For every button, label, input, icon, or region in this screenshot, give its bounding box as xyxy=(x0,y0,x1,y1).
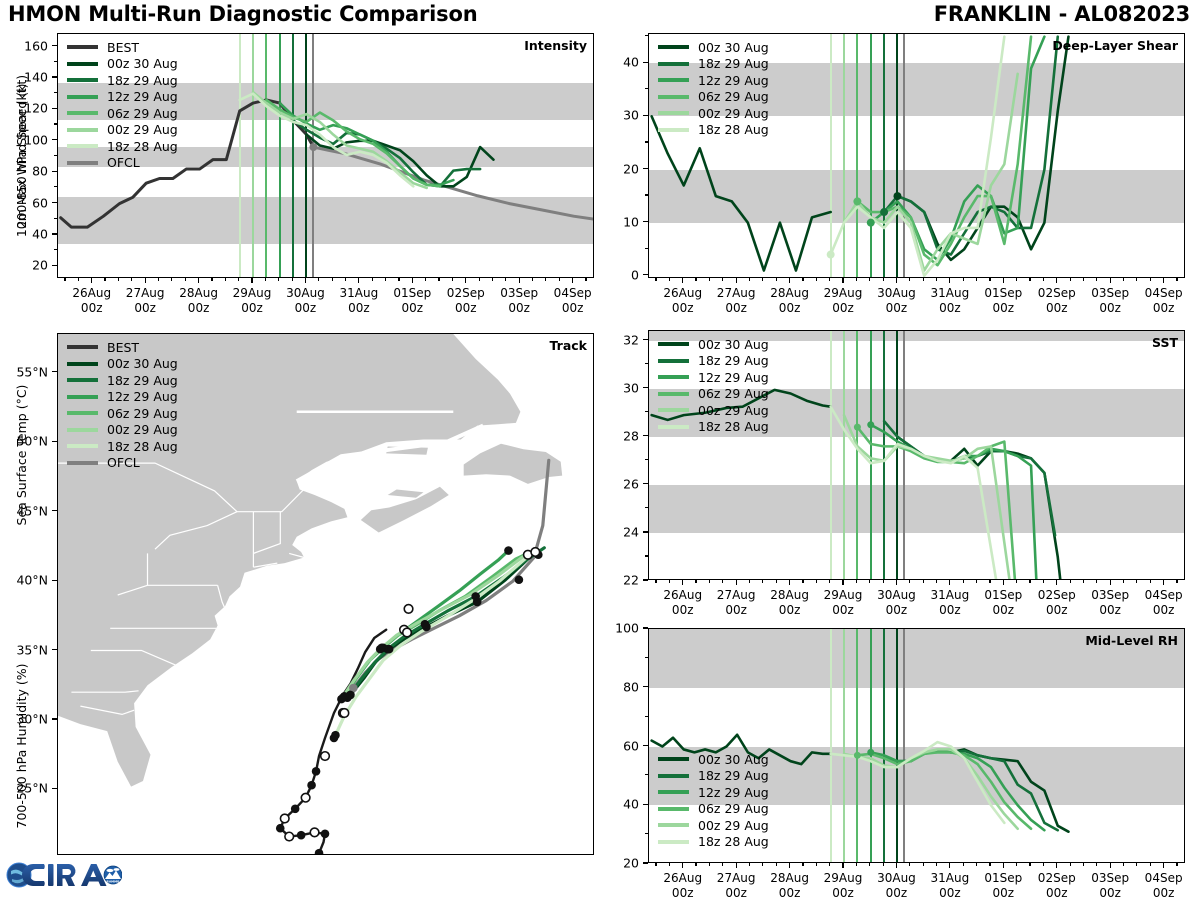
legend-label: 00z 29 Aug xyxy=(107,122,178,137)
xtick-date: 04Sep xyxy=(554,286,592,300)
shear-xtickmark-minor xyxy=(989,278,990,281)
track-ytick-25: 25°N xyxy=(0,781,48,796)
track-position-marker xyxy=(297,831,306,840)
intensity-plot-area: IntensityBEST00z 30 Aug18z 29 Aug12z 29 … xyxy=(57,33,594,278)
shear-xtick-30Aug: 30Aug00z xyxy=(877,286,916,316)
sst-xtickmark-minor xyxy=(829,580,830,583)
intensity-xtickmark-minor xyxy=(171,278,172,281)
intensity-xtickmark-minor xyxy=(559,278,560,281)
xtick-hour: 00z xyxy=(348,301,370,315)
xtick-hour: 00z xyxy=(1153,301,1175,315)
intensity-xtickmark xyxy=(519,278,520,283)
rh-xtick-02Sep: 02Sep00z xyxy=(1038,871,1076,900)
legend-item-00z-30-aug: 00z 30 Aug xyxy=(658,336,769,353)
legend-item-00z-30-aug: 00z 30 Aug xyxy=(67,356,178,373)
track-position-marker xyxy=(280,814,289,823)
legend-label: 18z 29 Aug xyxy=(698,353,769,368)
legend-label: 06z 29 Aug xyxy=(107,106,178,121)
legend-item-06z-29-aug: 06z 29 Aug xyxy=(658,89,769,106)
xtick-date: 04Sep xyxy=(1145,871,1183,885)
track-ytick-35: 35°N xyxy=(0,642,48,657)
intensity-xtickmark-minor xyxy=(318,278,319,281)
legend-swatch-00z-29-aug xyxy=(658,408,689,412)
rh-xtickmark-minor xyxy=(1070,863,1071,866)
rh-xtickmark-minor xyxy=(1150,863,1151,866)
xtick-hour: 00z xyxy=(81,301,103,315)
legend-item-18z-29-aug: 18z 29 Aug xyxy=(658,353,769,370)
intensity-xtickmark-minor xyxy=(118,278,119,281)
intensity-xtickmark xyxy=(572,278,573,283)
rh-xtickmark-minor xyxy=(1029,863,1030,866)
track-ytick-45: 45°N xyxy=(0,503,48,518)
intensity-xtickmark-minor xyxy=(505,278,506,281)
rh-xtickmark-minor xyxy=(923,863,924,866)
legend-label: 18z 28 Aug xyxy=(698,419,769,434)
xtick-hour: 00z xyxy=(134,301,156,315)
sst-xtick-28Aug: 28Aug00z xyxy=(770,588,809,618)
legend-label: 06z 29 Aug xyxy=(698,386,769,401)
rh-xtick-27Aug: 27Aug00z xyxy=(717,871,756,900)
sst-xtickmark-minor xyxy=(883,580,884,583)
intensity-xtickmark-minor xyxy=(438,278,439,281)
xtick-date: 26Aug xyxy=(72,286,111,300)
rh-xtickmark-minor xyxy=(936,863,937,866)
legend-item-00z-29-aug: 00z 29 Aug xyxy=(67,122,178,139)
legend-swatch-18z-28-aug xyxy=(67,444,98,448)
legend-label: 00z 29 Aug xyxy=(698,818,769,833)
sst-xtickmark-minor xyxy=(695,580,696,583)
intensity-xtickmark-minor xyxy=(425,278,426,281)
sst-xtickmark-minor xyxy=(936,580,937,583)
xtick-hour: 00z xyxy=(993,603,1015,617)
track-position-marker xyxy=(331,731,340,740)
track-position-marker xyxy=(531,548,540,557)
legend-item-00z-30-aug: 00z 30 Aug xyxy=(658,751,769,768)
rh-xtickmark xyxy=(736,863,737,868)
legend-item-00z-29-aug: 00z 29 Aug xyxy=(67,422,178,439)
rh-xtickmark-minor xyxy=(883,863,884,866)
legend-item-12z-29-aug: 12z 29 Aug xyxy=(658,369,769,386)
rh-xtickmark-minor xyxy=(669,863,670,866)
sst-xtickmark-minor xyxy=(709,580,710,583)
legend-swatch-18z-29-aug xyxy=(67,78,98,82)
intensity-xtickmark xyxy=(251,278,252,283)
xtick-date: 27Aug xyxy=(717,871,756,885)
series-00z-30-aug xyxy=(897,37,1068,260)
series-18z-29-aug xyxy=(884,751,1058,830)
shear-xtickmark xyxy=(1003,278,1004,283)
sst-xtickmark xyxy=(789,580,790,585)
legend-item-best: BEST xyxy=(67,39,178,56)
intensity-xtickmark-minor xyxy=(345,278,346,281)
sst-xtickmark-minor xyxy=(816,580,817,583)
shear-xtickmark xyxy=(949,278,950,283)
shear-xtickmark-minor xyxy=(976,278,977,281)
rh-xtickmark xyxy=(1163,863,1164,868)
intensity-xtickmark-minor xyxy=(585,278,586,281)
shear-xtickmark-minor xyxy=(709,278,710,281)
legend-label: BEST xyxy=(107,40,139,55)
xtick-hour: 00z xyxy=(295,301,317,315)
shear-xtickmark xyxy=(1056,278,1057,283)
intensity-xtickmark-minor xyxy=(532,278,533,281)
xtick-hour: 00z xyxy=(993,886,1015,900)
rh-xtick-29Aug: 29Aug00z xyxy=(824,871,863,900)
track-position-marker xyxy=(403,628,412,637)
shear-xtickmark-minor xyxy=(909,278,910,281)
xtick-date: 28Aug xyxy=(770,286,809,300)
track-ytick-50: 50°N xyxy=(0,434,48,449)
xtick-date: 29Aug xyxy=(824,871,863,885)
xtick-hour: 00z xyxy=(993,301,1015,315)
legend-label: 06z 29 Aug xyxy=(698,801,769,816)
rh-xtickmark xyxy=(949,863,950,868)
rh-xtick-30Aug: 30Aug00z xyxy=(877,871,916,900)
track-position-marker xyxy=(321,752,330,761)
xtick-date: 28Aug xyxy=(770,871,809,885)
shear-xtick-29Aug: 29Aug00z xyxy=(824,286,863,316)
shear-xtickmark xyxy=(789,278,790,283)
track-position-marker xyxy=(471,592,480,601)
shear-y-axis-label: 200-850 hPa Shear (kt) xyxy=(14,83,29,228)
legend-swatch-18z-28-aug xyxy=(658,840,689,844)
xtick-hour: 00z xyxy=(455,301,477,315)
intensity-xtick-31Aug: 31Aug00z xyxy=(340,286,379,316)
legend-item-00z-29-aug: 00z 29 Aug xyxy=(658,105,769,122)
legend-item-18z-28-aug: 18z 28 Aug xyxy=(67,138,178,155)
intensity-xtickmark-minor xyxy=(385,278,386,281)
shear-xtick-31Aug: 31Aug00z xyxy=(931,286,970,316)
intensity-xtickmark-minor xyxy=(479,278,480,281)
track-position-marker xyxy=(301,793,310,802)
shear-xtickmark-minor xyxy=(722,278,723,281)
rh-xtickmark-minor xyxy=(829,863,830,866)
rh-xtickmark-minor xyxy=(856,863,857,866)
legend-label: BEST xyxy=(107,340,139,355)
xtick-date: 30Aug xyxy=(877,588,916,602)
intensity-ytick-140: 140 xyxy=(0,69,48,84)
track-plot-area: TrackBEST00z 30 Aug18z 29 Aug12z 29 Aug0… xyxy=(57,333,594,855)
track-panel-title: Track xyxy=(550,338,587,353)
legend-swatch-ofcl xyxy=(67,461,98,465)
legend-swatch-00z-29-aug xyxy=(658,823,689,827)
rh-xtick-31Aug: 31Aug00z xyxy=(931,871,970,900)
rh-panel-title: Mid-Level RH xyxy=(1085,633,1178,648)
intensity-ytick-100: 100 xyxy=(0,132,48,147)
xtick-date: 26Aug xyxy=(663,286,702,300)
legend-label: 12z 29 Aug xyxy=(698,785,769,800)
legend-item-00z-30-aug: 00z 30 Aug xyxy=(658,39,769,56)
intensity-xtickmark-minor xyxy=(278,278,279,281)
sst-xtickmark-minor xyxy=(655,580,656,583)
legend-label: 00z 30 Aug xyxy=(698,752,769,767)
sst-xtickmark-minor xyxy=(749,580,750,583)
xtick-date: 01Sep xyxy=(984,286,1022,300)
legend-swatch-12z-29-aug xyxy=(658,790,689,794)
sst-xtickmark-minor xyxy=(989,580,990,583)
xtick-hour: 00z xyxy=(779,603,801,617)
shear-xtickmark-minor xyxy=(1150,278,1151,281)
xtick-hour: 00z xyxy=(1046,603,1068,617)
legend-label: 18z 28 Aug xyxy=(698,122,769,137)
legend-item-12z-29-aug: 12z 29 Aug xyxy=(67,389,178,406)
track-ytick-30: 30°N xyxy=(0,711,48,726)
rh-xtickmark-minor xyxy=(1176,863,1177,866)
xtick-hour: 00z xyxy=(241,301,263,315)
sst-xtickmark-minor xyxy=(923,580,924,583)
legend-swatch-00z-30-aug xyxy=(67,362,98,366)
xtick-date: 29Aug xyxy=(233,286,272,300)
legend-swatch-06z-29-aug xyxy=(67,111,98,115)
intensity-xtickmark-minor xyxy=(104,278,105,281)
legend-item-18z-29-aug: 18z 29 Aug xyxy=(658,56,769,73)
sst-xtickmark-minor xyxy=(762,580,763,583)
legend-label: 00z 30 Aug xyxy=(107,356,178,371)
xtick-hour: 00z xyxy=(1153,603,1175,617)
shear-xtickmark-minor xyxy=(883,278,884,281)
intensity-xtick-01Sep: 01Sep00z xyxy=(393,286,431,316)
xtick-hour: 00z xyxy=(886,886,908,900)
shear-xtickmark-minor xyxy=(816,278,817,281)
xtick-hour: 00z xyxy=(672,886,694,900)
init-marker xyxy=(867,219,875,227)
sst-xtickmark-minor xyxy=(1016,580,1017,583)
sst-xtickmark xyxy=(842,580,843,585)
sst-y-axis-label: Sea Surface Temp (°C) xyxy=(14,385,29,526)
track-position-marker xyxy=(504,546,513,555)
intensity-xtickmark-minor xyxy=(372,278,373,281)
intensity-ytick-160: 160 xyxy=(0,38,48,53)
intensity-xtick-30Aug: 30Aug00z xyxy=(286,286,325,316)
shear-xtickmark-minor xyxy=(802,278,803,281)
intensity-ytick-40: 40 xyxy=(0,227,48,242)
rh-xtickmark-minor xyxy=(776,863,777,866)
intensity-xtickmark-minor xyxy=(185,278,186,281)
legend-label: 18z 29 Aug xyxy=(107,73,178,88)
sst-xtickmark-minor xyxy=(869,580,870,583)
shear-xtickmark-minor xyxy=(963,278,964,281)
track-position-marker xyxy=(285,832,294,841)
xtick-date: 26Aug xyxy=(663,871,702,885)
legend-swatch-12z-29-aug xyxy=(67,395,98,399)
shear-xtickmark xyxy=(682,278,683,283)
xtick-date: 27Aug xyxy=(126,286,165,300)
legend-label: 12z 29 Aug xyxy=(107,89,178,104)
legend-label: 18z 28 Aug xyxy=(698,834,769,849)
legend-swatch-00z-30-aug xyxy=(658,757,689,761)
legend-swatch-00z-30-aug xyxy=(658,342,689,346)
sst-xtick-26Aug: 26Aug00z xyxy=(663,588,702,618)
sst-xtickmark-minor xyxy=(909,580,910,583)
sst-xtick-04Sep: 04Sep00z xyxy=(1145,588,1183,618)
intensity-xtick-28Aug: 28Aug00z xyxy=(179,286,218,316)
legend-swatch-12z-29-aug xyxy=(658,375,689,379)
series-ofcl xyxy=(313,147,594,219)
rh-xtickmark-minor xyxy=(802,863,803,866)
xtick-date: 02Sep xyxy=(447,286,485,300)
sst-xtick-31Aug: 31Aug00z xyxy=(931,588,970,618)
intensity-xtickmark-minor xyxy=(452,278,453,281)
sst-xtickmark-minor xyxy=(1096,580,1097,583)
legend-item-06z-29-aug: 06z 29 Aug xyxy=(67,405,178,422)
series-00z-29-aug xyxy=(844,74,1018,271)
ofcl-origin-marker xyxy=(309,143,317,151)
rh-xtickmark xyxy=(789,863,790,868)
intensity-xtickmark-minor xyxy=(332,278,333,281)
xtick-hour: 00z xyxy=(939,301,961,315)
legend-label: OFCL xyxy=(107,155,140,170)
series-00z-29-aug xyxy=(253,92,427,188)
track-ytick-40: 40°N xyxy=(0,573,48,588)
legend-item-12z-29-aug: 12z 29 Aug xyxy=(67,89,178,106)
shear-xtick-27Aug: 27Aug00z xyxy=(717,286,756,316)
rh-xtickmark-minor xyxy=(722,863,723,866)
legend-item-12z-29-aug: 12z 29 Aug xyxy=(658,784,769,801)
shear-xtickmark-minor xyxy=(869,278,870,281)
legend-swatch-12z-29-aug xyxy=(658,78,689,82)
legend-swatch-18z-29-aug xyxy=(67,378,98,382)
shear-xtickmark-minor xyxy=(936,278,937,281)
sst-xtickmark-minor xyxy=(856,580,857,583)
sst-xtick-29Aug: 29Aug00z xyxy=(824,588,863,618)
shear-xtick-26Aug: 26Aug00z xyxy=(663,286,702,316)
intensity-xtickmark-minor xyxy=(64,278,65,281)
legend-label: 06z 29 Aug xyxy=(698,89,769,104)
rh-xtickmark-minor xyxy=(1043,863,1044,866)
track-position-marker xyxy=(376,645,385,654)
intensity-xtickmark-minor xyxy=(158,278,159,281)
legend-label: 00z 30 Aug xyxy=(698,40,769,55)
xtick-hour: 00z xyxy=(832,603,854,617)
xtick-date: 02Sep xyxy=(1038,286,1076,300)
xtick-date: 04Sep xyxy=(1145,588,1183,602)
rh-xtickmark-minor xyxy=(749,863,750,866)
rh-xtickmark xyxy=(682,863,683,868)
xtick-hour: 00z xyxy=(886,301,908,315)
rh-xtickmark-minor xyxy=(989,863,990,866)
intensity-ytick-120: 120 xyxy=(0,101,48,116)
xtick-date: 31Aug xyxy=(931,871,970,885)
rh-xtickmark-minor xyxy=(976,863,977,866)
track-position-marker xyxy=(276,824,285,833)
intensity-xtickmark-minor xyxy=(131,278,132,281)
sst-xtickmark-minor xyxy=(802,580,803,583)
xtick-date: 03Sep xyxy=(1091,286,1129,300)
xtick-date: 29Aug xyxy=(824,286,863,300)
xtick-hour: 00z xyxy=(886,603,908,617)
xtick-date: 03Sep xyxy=(1091,588,1129,602)
shear-xtickmark-minor xyxy=(856,278,857,281)
legend-label: 18z 29 Aug xyxy=(698,768,769,783)
rh-xtickmark-minor xyxy=(762,863,763,866)
shear-xtickmark xyxy=(1110,278,1111,283)
intensity-xtickmark-minor xyxy=(545,278,546,281)
track-position-marker xyxy=(337,695,346,704)
init-marker xyxy=(854,752,861,759)
legend-item-00z-30-aug: 00z 30 Aug xyxy=(67,56,178,73)
sst-xtickmark-minor xyxy=(976,580,977,583)
xtick-hour: 00z xyxy=(672,301,694,315)
intensity-xtick-27Aug: 27Aug00z xyxy=(126,286,165,316)
shear-xtickmark xyxy=(1163,278,1164,283)
sst-xtickmark xyxy=(1110,580,1111,585)
init-marker xyxy=(853,197,861,205)
shear-xtickmark-minor xyxy=(749,278,750,281)
rh-xtickmark xyxy=(842,863,843,868)
legend-swatch-00z-30-aug xyxy=(67,62,98,66)
shear-xtickmark-minor xyxy=(695,278,696,281)
legend-item-06z-29-aug: 06z 29 Aug xyxy=(67,105,178,122)
legend-swatch-00z-29-aug xyxy=(658,111,689,115)
rh-xtickmark xyxy=(1003,863,1004,868)
xtick-hour: 00z xyxy=(402,301,424,315)
intensity-xtickmark-minor xyxy=(238,278,239,281)
sst-xtickmark-minor xyxy=(1123,580,1124,583)
intensity-xtickmark xyxy=(305,278,306,283)
sst-legend: 00z 30 Aug18z 29 Aug12z 29 Aug06z 29 Aug… xyxy=(658,336,769,435)
intensity-xtickmark xyxy=(145,278,146,283)
intensity-xtickmark xyxy=(358,278,359,283)
xtick-date: 28Aug xyxy=(770,588,809,602)
sst-xtick-30Aug: 30Aug00z xyxy=(877,588,916,618)
shear-xtick-04Sep: 04Sep00z xyxy=(1145,286,1183,316)
legend-swatch-ofcl xyxy=(67,161,98,165)
init-marker xyxy=(867,421,874,428)
intensity-xtickmark xyxy=(412,278,413,283)
xtick-hour: 00z xyxy=(832,301,854,315)
shear-plot-area: Deep-Layer Shear00z 30 Aug18z 29 Aug12z … xyxy=(648,33,1185,278)
rh-xtickmark xyxy=(896,863,897,868)
shear-xtickmark-minor xyxy=(669,278,670,281)
xtick-hour: 00z xyxy=(1046,886,1068,900)
legend-item-18z-28-aug: 18z 28 Aug xyxy=(67,438,178,455)
intensity-xtickmark-minor xyxy=(492,278,493,281)
xtick-hour: 00z xyxy=(725,886,747,900)
shear-xtickmark-minor xyxy=(1176,278,1177,281)
track-position-marker xyxy=(312,767,321,776)
legend-swatch-06z-29-aug xyxy=(658,807,689,811)
sst-xtickmark-minor xyxy=(1150,580,1151,583)
intensity-xtickmark-minor xyxy=(225,278,226,281)
intensity-legend: BEST00z 30 Aug18z 29 Aug12z 29 Aug06z 29… xyxy=(67,39,178,171)
intensity-xtick-29Aug: 29Aug00z xyxy=(233,286,272,316)
shear-xtickmark-minor xyxy=(1083,278,1084,281)
xtick-date: 04Sep xyxy=(1145,286,1183,300)
legend-label: 06z 29 Aug xyxy=(107,406,178,421)
sst-plot-area: SST00z 30 Aug18z 29 Aug12z 29 Aug06z 29 … xyxy=(648,330,1185,580)
rh-xtick-04Sep: 04Sep00z xyxy=(1145,871,1183,900)
xtick-hour: 00z xyxy=(725,603,747,617)
legend-label: 12z 29 Aug xyxy=(698,73,769,88)
legend-label: 12z 29 Aug xyxy=(107,389,178,404)
legend-item-00z-29-aug: 00z 29 Aug xyxy=(658,817,769,834)
legend-item-18z-28-aug: 18z 28 Aug xyxy=(658,834,769,851)
xtick-date: 02Sep xyxy=(1038,588,1076,602)
rh-xtickmark-minor xyxy=(963,863,964,866)
intensity-ytick-20: 20 xyxy=(0,258,48,273)
xtick-date: 31Aug xyxy=(931,286,970,300)
rh-xtickmark-minor xyxy=(695,863,696,866)
legend-label: 00z 29 Aug xyxy=(107,422,178,437)
xtick-hour: 00z xyxy=(562,301,584,315)
intensity-ytick-80: 80 xyxy=(0,164,48,179)
rh-xtickmark-minor xyxy=(1123,863,1124,866)
rh-xtickmark-minor xyxy=(1083,863,1084,866)
intensity-y-axis-label: 10m Max Wind Speed (kt) xyxy=(14,74,29,236)
sst-xtick-27Aug: 27Aug00z xyxy=(717,588,756,618)
xtick-hour: 00z xyxy=(1099,886,1121,900)
legend-item-best: BEST xyxy=(67,339,178,356)
